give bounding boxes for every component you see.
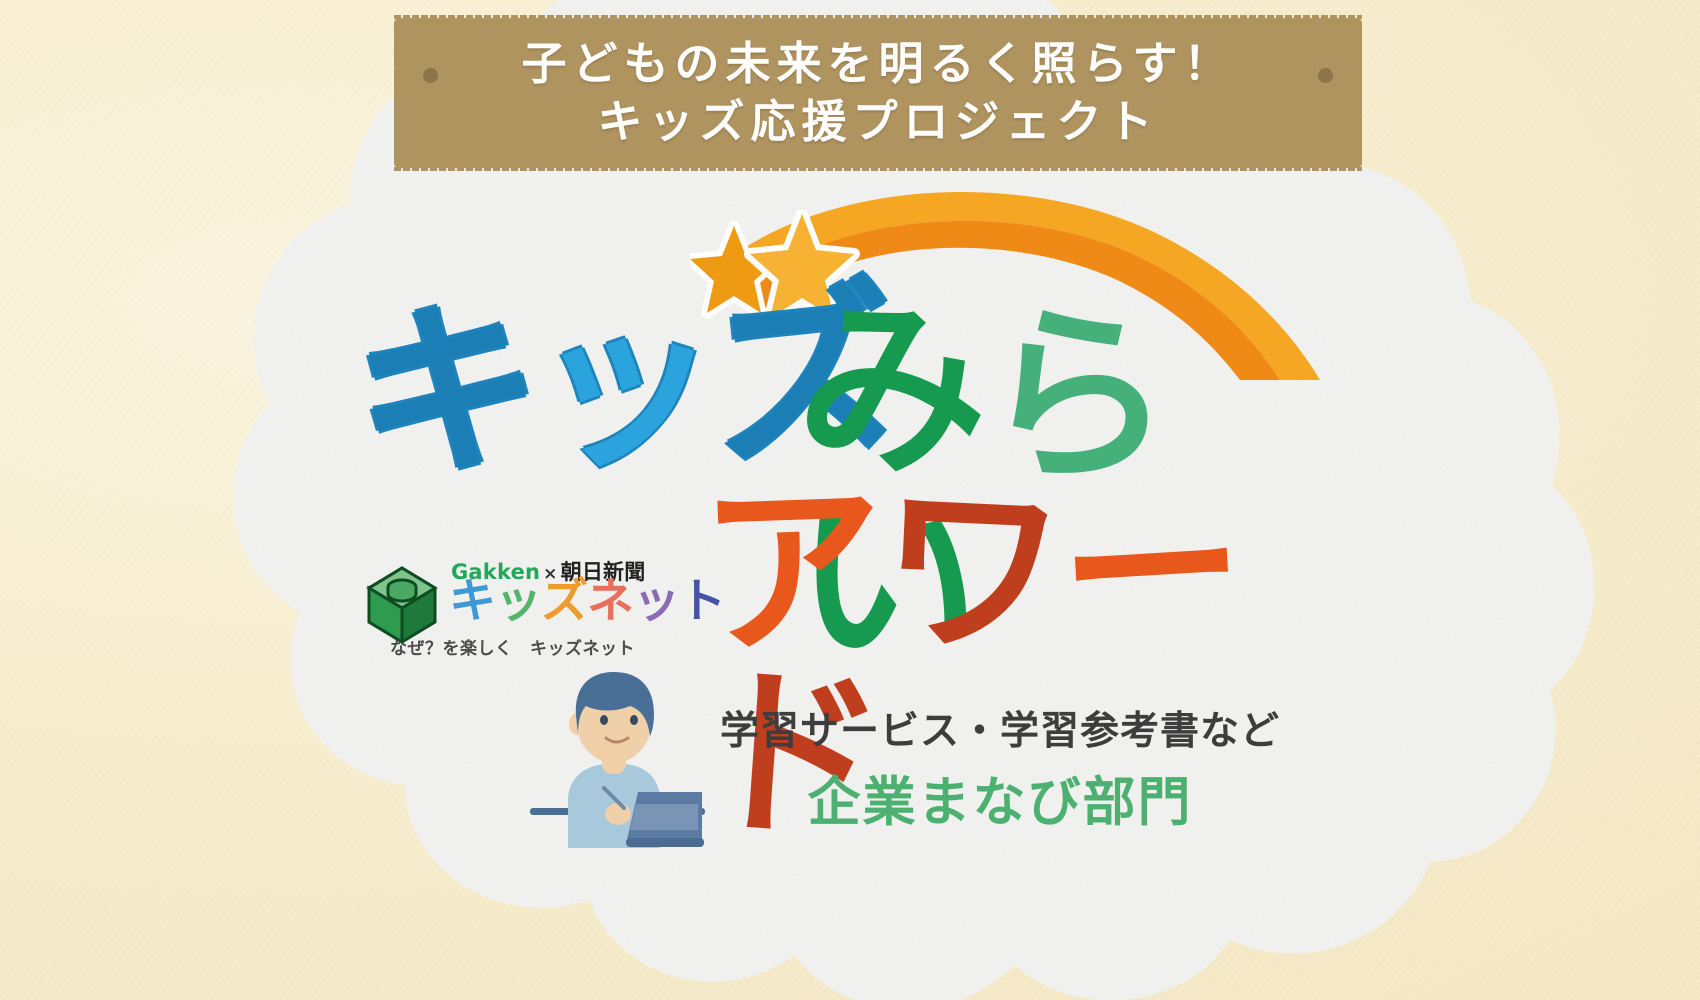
kidsnet-char-0: キ bbox=[449, 578, 495, 625]
category-title: 企業まなび部門 bbox=[700, 760, 1300, 836]
banner-headline: 子どもの未来を明るく照らす！ キッズ応援プロジェクト bbox=[521, 35, 1234, 152]
top-banner: 子どもの未来を明るく照らす！ キッズ応援プロジェクト bbox=[394, 18, 1362, 168]
kidsnet-brand: キッズネット bbox=[449, 578, 725, 625]
kidsnet-char-5: ト bbox=[679, 578, 725, 625]
rivet-left-icon bbox=[423, 68, 438, 83]
logo-line-2: アワード bbox=[700, 480, 1300, 700]
kidsnet-tagline: なぜ？を楽しく キッズネット bbox=[390, 634, 635, 659]
rivet-right-icon bbox=[1318, 68, 1333, 83]
cube-svg bbox=[366, 566, 438, 644]
logo-char: キ bbox=[348, 293, 540, 492]
logo-char: ワ bbox=[876, 476, 1064, 668]
kidsnet-char-4: ッ bbox=[633, 578, 679, 625]
eye-left bbox=[600, 715, 608, 725]
eye-right bbox=[630, 715, 638, 725]
boy-with-tablet-illustration bbox=[530, 668, 705, 852]
hand bbox=[605, 803, 631, 825]
logo-char: ー bbox=[1055, 475, 1246, 669]
kidsnet-char-1: ッ bbox=[495, 578, 541, 625]
category-subtitle: 学習サービス・学習参考書など bbox=[700, 700, 1300, 756]
kidsnet-logo[interactable]: Gakken×朝日新聞 キッズネット なぜ？を楽しく キッズネット bbox=[366, 556, 662, 656]
kidsnet-char-2: ズ bbox=[541, 578, 587, 625]
boy-svg bbox=[530, 668, 705, 848]
logo-char: ッ bbox=[533, 292, 712, 479]
poster-root: 子どもの未来を明るく照らす！ キッズ応援プロジェクト キッズ みらい アワード … bbox=[0, 0, 1700, 1000]
kidsnet-char-3: ネ bbox=[587, 578, 633, 625]
tablet-icon bbox=[626, 792, 704, 847]
logo-char: ア bbox=[697, 477, 883, 667]
